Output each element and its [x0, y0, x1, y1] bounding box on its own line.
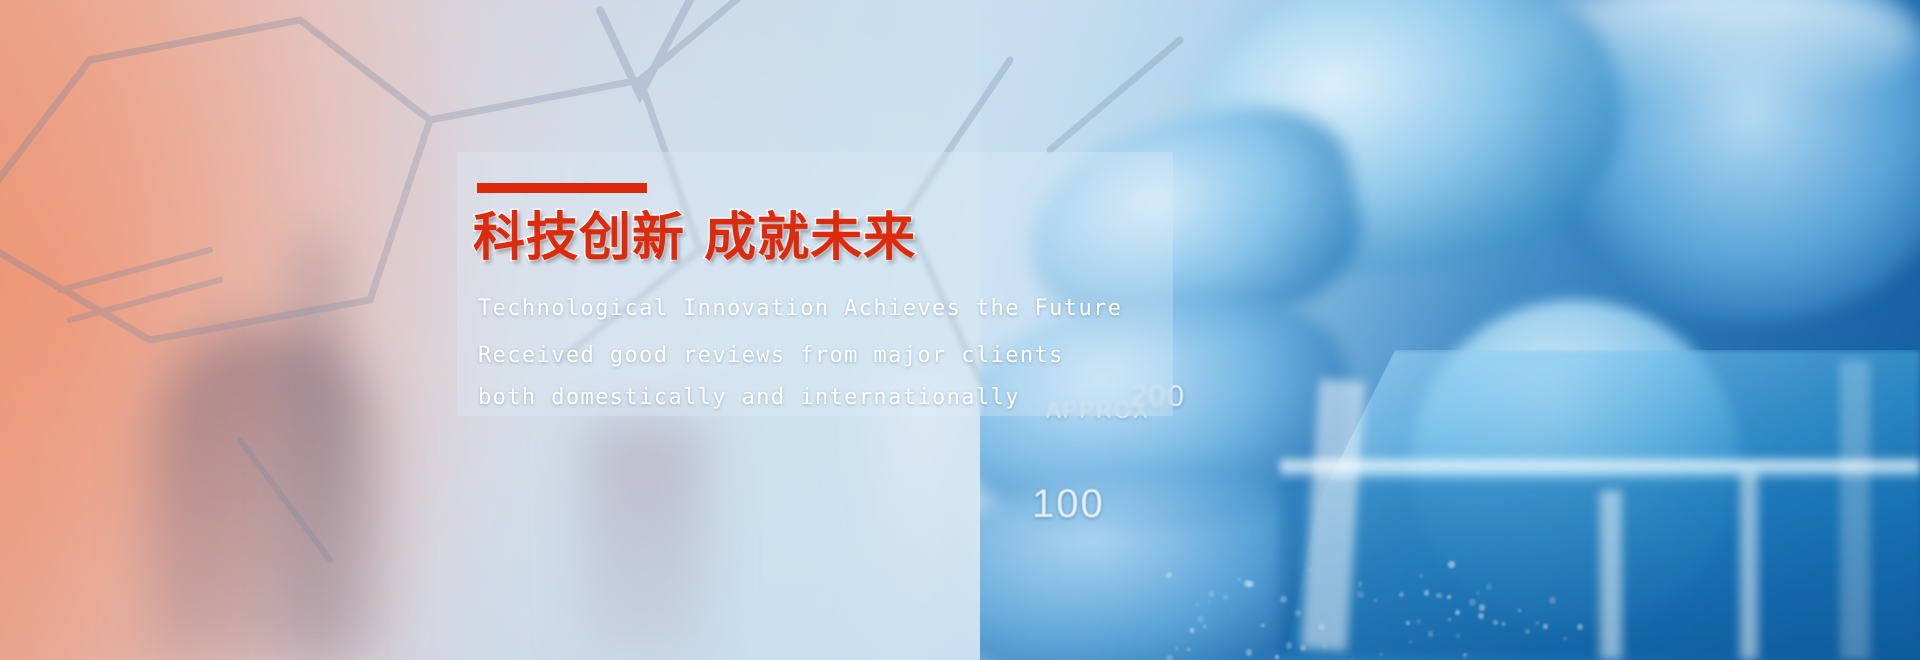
hero-banner: APPROX 200 100 科技创新 成就未来 Technological I… — [0, 0, 1920, 660]
subtitle-line-3: both domestically and internationally — [478, 385, 1020, 410]
subtitle-line-1: Technological Innovation Achieves the Fu… — [478, 296, 1122, 321]
page-title: 科技创新 成就未来 — [473, 212, 916, 264]
accent-bar — [477, 183, 647, 193]
flask-bubbles — [1160, 560, 1580, 660]
subtitle-line-2: Received good reviews from major clients — [478, 343, 1064, 368]
